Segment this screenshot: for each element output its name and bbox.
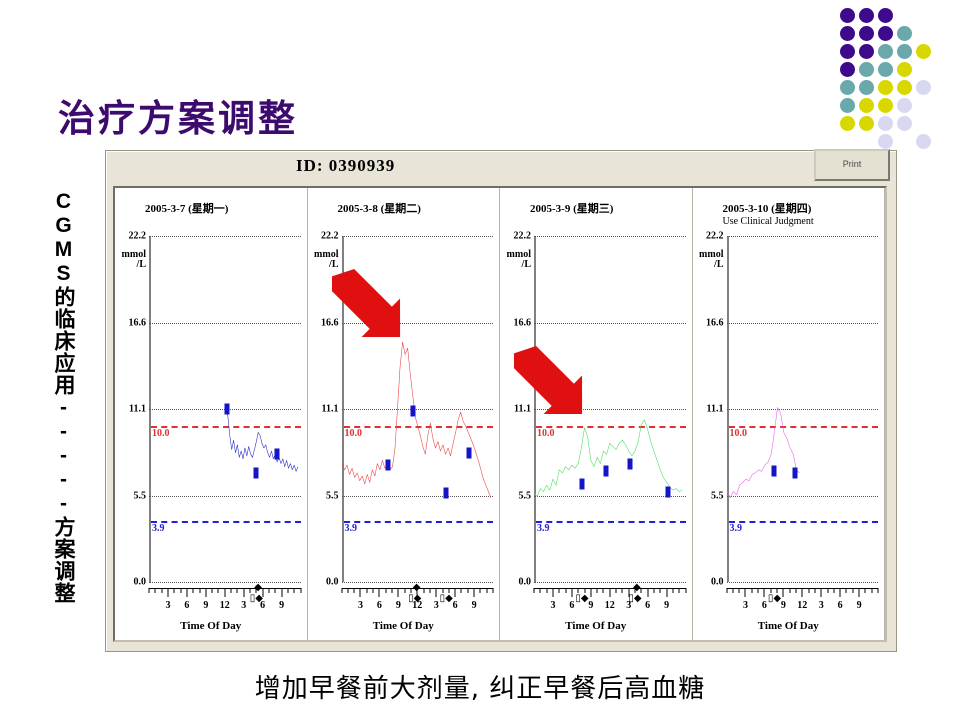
x-axis-tick — [442, 588, 443, 593]
x-axis-tick-label: 9 — [664, 600, 669, 611]
event-marker — [274, 449, 279, 460]
decorative-dot — [916, 44, 931, 59]
decorative-dot — [916, 80, 931, 95]
x-axis-tick — [155, 588, 156, 593]
decorative-dot — [878, 116, 893, 131]
y-gridline — [727, 582, 879, 583]
x-axis-tick — [732, 588, 733, 593]
x-axis-tick — [379, 588, 380, 597]
x-axis-tick — [212, 588, 213, 593]
decorative-dot-grid — [840, 8, 956, 156]
x-axis-tick — [534, 588, 535, 593]
x-axis-tick — [679, 588, 680, 593]
event-marker — [603, 466, 608, 477]
x-axis-tick-label: 6 — [838, 600, 843, 611]
x-axis-tick — [180, 588, 181, 593]
x-axis-tick-label: 6 — [377, 600, 382, 611]
x-axis — [342, 588, 494, 598]
x-axis-tick — [833, 588, 834, 593]
x-axis-tick — [224, 588, 225, 597]
y-axis-tick-label: 11.1 — [514, 404, 531, 415]
x-axis-tick-label: 9 — [203, 600, 208, 611]
slide-caption: 增加早餐前大剂量, 纠正早餐后高血糖 — [0, 668, 960, 705]
x-axis-tick — [609, 588, 610, 597]
plot-area: 22.216.611.15.50.0mmol/L10.03.9▯◆◆▯◆ — [534, 236, 686, 582]
page-title: 治疗方案调整 — [58, 88, 298, 142]
x-axis-tick-label: 3 — [434, 600, 439, 611]
x-axis-tick-label: 3 — [358, 600, 363, 611]
x-axis-tick — [622, 588, 623, 593]
decorative-dot — [878, 62, 893, 77]
x-axis-tick-label: 6 — [645, 600, 650, 611]
x-axis-tick — [294, 588, 295, 593]
x-axis-tick — [846, 588, 847, 593]
decorative-dot — [859, 26, 874, 41]
y-axis-tick-label: 11.1 — [707, 404, 724, 415]
decorative-dot — [897, 44, 912, 59]
glucose-trace — [534, 236, 686, 582]
y-gridline — [534, 582, 686, 583]
x-axis-labels: 36912369 — [149, 600, 301, 614]
x-axis-tick — [616, 588, 617, 593]
y-axis-tick-label: 22.2 — [129, 231, 147, 242]
event-marker — [579, 478, 584, 489]
y-axis-tick-label: 16.6 — [514, 318, 532, 329]
plot-area: 22.216.611.15.50.0mmol/L10.03.9▯◆ — [727, 236, 879, 582]
y-axis-tick-label: 0.0 — [519, 577, 532, 588]
x-axis-tick — [486, 588, 487, 593]
x-axis-title: Time Of Day — [115, 620, 307, 632]
y-axis-tick-label: 16.6 — [706, 318, 724, 329]
decorative-dot — [840, 26, 855, 41]
event-marker — [254, 467, 259, 478]
panel-date-title: 2005-3-7 (星期一) — [145, 200, 228, 216]
x-axis-tick — [281, 588, 282, 597]
y-axis-unit-label: mmol/L — [122, 250, 146, 271]
x-axis-tick — [840, 588, 841, 597]
decorative-dot — [878, 8, 893, 23]
x-axis-tick — [455, 588, 456, 597]
x-axis-labels: 36912369 — [727, 600, 879, 614]
x-axis-tick-label: 9 — [857, 600, 862, 611]
x-axis-tick — [764, 588, 765, 597]
y-axis-unit-label: mmol/L — [314, 250, 338, 271]
x-axis-tick — [865, 588, 866, 593]
x-axis-tick-label: 6 — [569, 600, 574, 611]
x-axis-tick — [795, 588, 796, 593]
x-axis-tick — [685, 588, 686, 593]
x-axis — [534, 588, 686, 598]
x-axis-tick — [392, 588, 393, 593]
x-axis-tick-label: 6 — [260, 600, 265, 611]
y-axis-tick-label: 5.5 — [519, 491, 532, 502]
x-axis-tick — [193, 588, 194, 593]
decorative-dot — [840, 80, 855, 95]
x-axis-tick — [808, 588, 809, 593]
x-axis-tick — [398, 588, 399, 597]
y-axis-tick-label: 16.6 — [321, 318, 339, 329]
x-axis-tick — [871, 588, 872, 593]
x-axis-tick — [256, 588, 257, 593]
print-button[interactable]: Print — [814, 149, 890, 181]
x-axis-tick — [360, 588, 361, 597]
x-axis-tick — [410, 588, 411, 593]
x-axis-tick — [666, 588, 667, 597]
decorative-dot — [859, 116, 874, 131]
x-axis-tick-label: 12 — [605, 600, 615, 611]
vertical-section-label: CGMS的临床应用-----方案调整 — [30, 190, 74, 630]
decorative-dot — [840, 116, 855, 131]
x-axis-tick — [571, 588, 572, 597]
x-axis-tick — [653, 588, 654, 593]
x-axis-tick — [287, 588, 288, 593]
x-axis — [149, 588, 301, 598]
x-axis-tick — [167, 588, 168, 597]
x-axis-tick — [186, 588, 187, 597]
x-axis-tick — [647, 588, 648, 597]
y-axis-unit-label: mmol/L — [507, 250, 531, 271]
plot-area: 22.216.611.15.50.0mmol/L10.03.9◆▯◆ — [149, 236, 301, 582]
x-axis-tick — [231, 588, 232, 593]
y-axis-tick-label: 11.1 — [322, 404, 339, 415]
decorative-dot — [878, 26, 893, 41]
x-axis-tick — [821, 588, 822, 597]
x-axis-tick — [770, 588, 771, 593]
y-axis-unit-label: mmol/L — [699, 250, 723, 271]
x-axis-tick-label: 9 — [279, 600, 284, 611]
y-gridline — [149, 582, 301, 583]
x-axis-tick — [149, 588, 150, 593]
x-axis-tick — [417, 588, 418, 597]
cgms-app-window: ID: 0390939 Print 2005-3-7 (星期一)22.216.6… — [105, 150, 897, 652]
x-axis-labels: 36912369 — [342, 600, 494, 614]
y-axis-tick-label: 0.0 — [134, 577, 147, 588]
y-axis-tick-label: 0.0 — [711, 577, 724, 588]
patient-id-label: ID: 0390939 — [296, 156, 395, 176]
x-axis-tick-label: 12 — [412, 600, 422, 611]
daily-charts-container: 2005-3-7 (星期一)22.216.611.15.50.0mmol/L10… — [113, 186, 887, 642]
x-axis-tick — [161, 588, 162, 593]
x-axis-tick — [373, 588, 374, 593]
decorative-dot — [897, 80, 912, 95]
x-axis-tick — [250, 588, 251, 593]
x-axis-tick — [243, 588, 244, 597]
x-axis-tick — [366, 588, 367, 593]
decorative-dot — [878, 44, 893, 59]
x-axis-tick — [347, 588, 348, 593]
decorative-dot — [840, 8, 855, 23]
panel-subtitle: Use Clinical Judgment — [723, 216, 814, 227]
event-marker — [467, 447, 472, 458]
x-axis-tick-label: 12 — [220, 600, 230, 611]
x-axis-tick — [493, 588, 494, 593]
x-axis-tick — [474, 588, 475, 597]
y-axis-tick-label: 0.0 — [326, 577, 339, 588]
x-axis-tick — [300, 588, 301, 593]
x-axis-tick-label: 9 — [396, 600, 401, 611]
x-axis-tick — [878, 588, 879, 593]
x-axis-tick — [660, 588, 661, 593]
event-marker — [411, 405, 416, 416]
event-marker — [627, 458, 632, 469]
x-axis-tick — [584, 588, 585, 593]
x-axis-tick — [672, 588, 673, 593]
x-axis-tick — [590, 588, 591, 597]
x-axis-title: Time Of Day — [500, 620, 692, 632]
x-axis-tick — [745, 588, 746, 597]
x-axis-tick — [814, 588, 815, 593]
x-axis-tick — [404, 588, 405, 593]
x-axis-tick-label: 6 — [453, 600, 458, 611]
x-axis-tick — [448, 588, 449, 593]
x-axis-tick — [540, 588, 541, 593]
x-axis — [727, 588, 879, 598]
event-marker — [225, 404, 230, 415]
x-axis-tick — [480, 588, 481, 593]
x-axis-tick — [597, 588, 598, 593]
x-axis-tick — [852, 588, 853, 593]
x-axis-tick — [789, 588, 790, 593]
x-axis-tick — [802, 588, 803, 597]
x-axis-tick — [275, 588, 276, 593]
panel-date-title: 2005-3-9 (星期三) — [530, 200, 613, 216]
y-axis-tick-label: 5.5 — [711, 491, 724, 502]
event-marker — [772, 466, 777, 477]
x-axis-tick-label: 3 — [165, 600, 170, 611]
x-axis-tick — [559, 588, 560, 593]
x-axis-tick — [385, 588, 386, 593]
panel-date-title: 2005-3-8 (星期二) — [338, 200, 421, 216]
event-marker — [665, 486, 670, 497]
x-axis-tick-label: 3 — [550, 600, 555, 611]
x-axis-tick — [268, 588, 269, 593]
y-axis-tick-label: 22.2 — [706, 231, 724, 242]
x-axis-tick — [429, 588, 430, 593]
x-axis-tick — [174, 588, 175, 593]
x-axis-tick — [783, 588, 784, 597]
x-axis-tick-label: 3 — [626, 600, 631, 611]
day-panel: 2005-3-7 (星期一)22.216.611.15.50.0mmol/L10… — [115, 188, 308, 640]
x-axis-tick-label: 3 — [743, 600, 748, 611]
y-axis-tick-label: 5.5 — [134, 491, 147, 502]
event-marker — [444, 488, 449, 499]
decorative-dot — [878, 134, 893, 149]
x-axis-tick — [859, 588, 860, 597]
x-axis-tick — [628, 588, 629, 597]
decorative-dot — [840, 98, 855, 113]
y-axis-tick-label: 11.1 — [129, 404, 146, 415]
glucose-trace — [342, 236, 494, 582]
day-panel: 2005-3-8 (星期二)22.216.611.15.50.0mmol/L10… — [308, 188, 501, 640]
x-axis-tick-label: 6 — [184, 600, 189, 611]
x-axis-tick — [218, 588, 219, 593]
decorative-dot — [897, 98, 912, 113]
x-axis-labels: 36912369 — [534, 600, 686, 614]
decorative-dot — [840, 62, 855, 77]
y-axis-tick-label: 5.5 — [326, 491, 339, 502]
y-axis-tick-label: 22.2 — [321, 231, 339, 242]
decorative-dot — [859, 8, 874, 23]
panel-date-title: 2005-3-10 (星期四) — [723, 200, 812, 216]
x-axis-tick — [341, 588, 342, 593]
x-axis-tick — [739, 588, 740, 593]
decorative-dot — [897, 116, 912, 131]
decorative-dot — [897, 26, 912, 41]
x-axis-title: Time Of Day — [308, 620, 500, 632]
x-axis-tick-label: 3 — [819, 600, 824, 611]
plot-area: 22.216.611.15.50.0mmol/L10.03.9◆▯◆▯◆ — [342, 236, 494, 582]
y-axis-tick-label: 22.2 — [514, 231, 532, 242]
decorative-dot — [859, 98, 874, 113]
x-axis-tick — [552, 588, 553, 597]
decorative-dot — [878, 80, 893, 95]
decorative-dot — [859, 80, 874, 95]
decorative-dot — [859, 62, 874, 77]
decorative-dot — [878, 98, 893, 113]
app-header: ID: 0390939 Print — [106, 151, 896, 184]
day-panel: 2005-3-10 (星期四)Use Clinical Judgment22.2… — [693, 188, 886, 640]
x-axis-tick — [546, 588, 547, 593]
x-axis-tick — [603, 588, 604, 593]
x-axis-tick-label: 9 — [588, 600, 593, 611]
x-axis-tick — [578, 588, 579, 593]
x-axis-tick — [758, 588, 759, 593]
event-marker — [792, 467, 797, 478]
x-axis-tick — [751, 588, 752, 593]
x-axis-title: Time Of Day — [693, 620, 885, 632]
x-axis-tick — [436, 588, 437, 597]
x-axis-tick — [565, 588, 566, 593]
x-axis-tick — [467, 588, 468, 593]
event-marker — [386, 460, 391, 471]
x-axis-tick — [205, 588, 206, 597]
x-axis-tick — [777, 588, 778, 593]
x-axis-tick-label: 12 — [797, 600, 807, 611]
x-axis-tick — [827, 588, 828, 593]
glucose-trace — [727, 236, 879, 582]
x-axis-tick-label: 6 — [762, 600, 767, 611]
x-axis-tick-label: 9 — [472, 600, 477, 611]
decorative-dot — [916, 134, 931, 149]
x-axis-tick-label: 9 — [781, 600, 786, 611]
day-panel: 2005-3-9 (星期三)22.216.611.15.50.0mmol/L10… — [500, 188, 693, 640]
x-axis-tick — [461, 588, 462, 593]
x-axis-tick — [726, 588, 727, 593]
decorative-dot — [859, 44, 874, 59]
x-axis-tick — [635, 588, 636, 593]
x-axis-tick-label: 3 — [241, 600, 246, 611]
x-axis-tick — [423, 588, 424, 593]
x-axis-tick — [641, 588, 642, 593]
x-axis-tick — [237, 588, 238, 593]
x-axis-tick — [199, 588, 200, 593]
decorative-dot — [840, 44, 855, 59]
y-axis-tick-label: 16.6 — [129, 318, 147, 329]
x-axis-tick — [354, 588, 355, 593]
decorative-dot — [897, 62, 912, 77]
x-axis-tick — [262, 588, 263, 597]
